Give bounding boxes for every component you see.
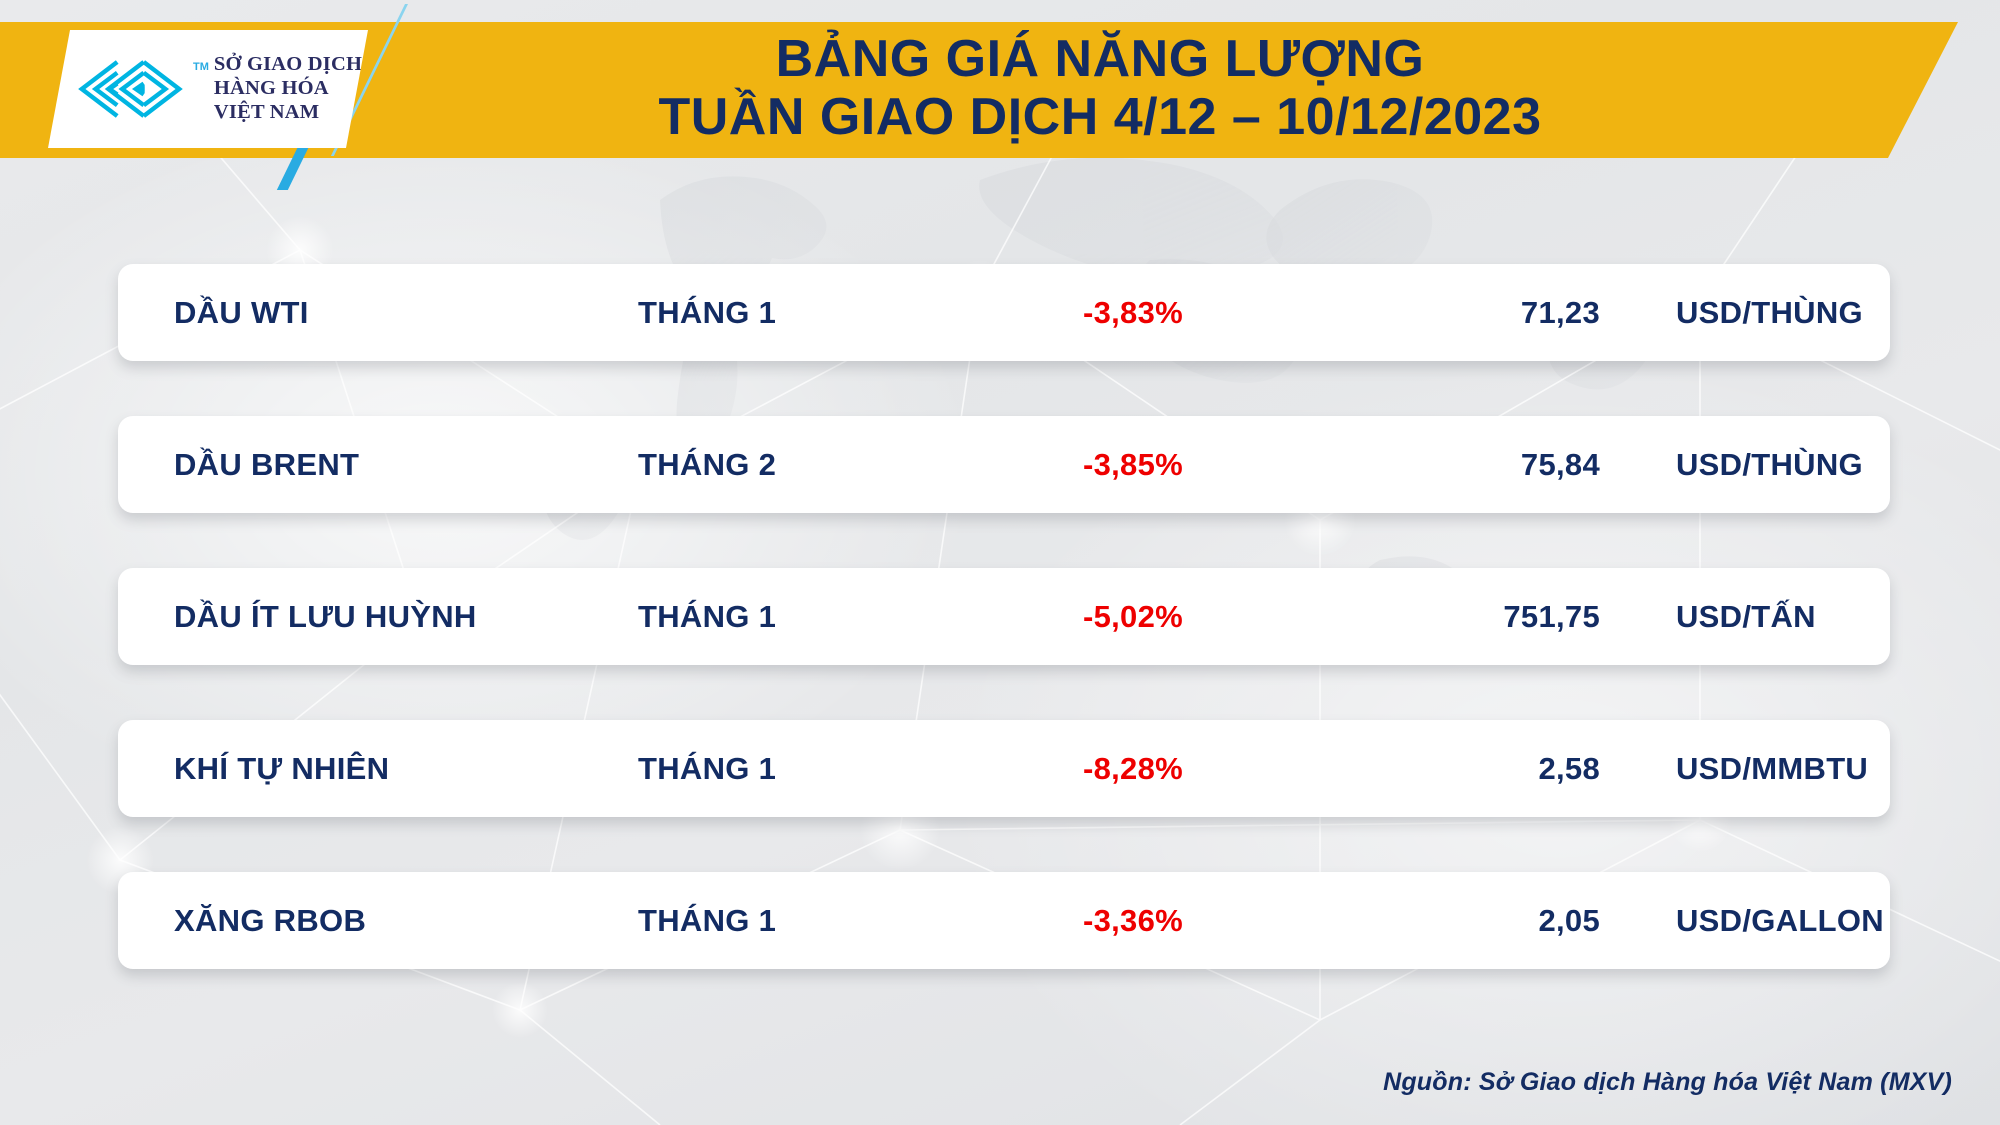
table-row[interactable]: DẦU ÍT LƯU HUỲNHTHÁNG 1-5,02%751,75USD/T… bbox=[118, 568, 1890, 665]
source-note: Nguồn: Sở Giao dịch Hàng hóa Việt Nam (M… bbox=[1383, 1068, 1952, 1097]
price-table: DẦU WTITHÁNG 1-3,83%71,23USD/THÙNGDẦU BR… bbox=[0, 0, 2000, 1125]
logo-card: TM SỞ GIAO DỊCH HÀNG HÓA VIỆT NAM bbox=[48, 30, 368, 148]
logo-wordmark-line3: VIỆT NAM bbox=[214, 101, 362, 125]
table-row[interactable]: DẦU BRENTTHÁNG 2-3,85%75,84USD/THÙNG bbox=[118, 416, 1890, 513]
commodity-name: DẦU BRENT bbox=[118, 447, 638, 483]
title-line-1: BẢNG GIÁ NĂNG LƯỢNG bbox=[776, 33, 1425, 87]
table-row[interactable]: DẦU WTITHÁNG 1-3,83%71,23USD/THÙNG bbox=[118, 264, 1890, 361]
table-row[interactable]: XĂNG RBOBTHÁNG 1-3,36%2,05USD/GALLON bbox=[118, 872, 1890, 969]
mxv-chevron-logo-icon bbox=[70, 58, 188, 120]
contract-month: THÁNG 1 bbox=[638, 599, 968, 635]
price-change-pct: -8,28% bbox=[968, 751, 1298, 787]
price-change-pct: -3,83% bbox=[968, 295, 1298, 331]
price-value: 71,23 bbox=[1298, 295, 1618, 331]
contract-month: THÁNG 1 bbox=[638, 295, 968, 331]
trademark-symbol: TM bbox=[193, 61, 209, 73]
price-unit: USD/GALLON bbox=[1618, 903, 1890, 939]
price-value: 75,84 bbox=[1298, 447, 1618, 483]
price-value: 2,58 bbox=[1298, 751, 1618, 787]
commodity-name: KHÍ TỰ NHIÊN bbox=[118, 751, 638, 787]
price-unit: USD/THÙNG bbox=[1618, 447, 1890, 483]
contract-month: THÁNG 1 bbox=[638, 903, 968, 939]
page-title: BẢNG GIÁ NĂNG LƯỢNG TUẦN GIAO DỊCH 4/12 … bbox=[360, 24, 1840, 154]
price-unit: USD/TẤN bbox=[1618, 599, 1890, 635]
logo-wordmark-line2: HÀNG HÓA bbox=[214, 77, 362, 101]
commodity-name: DẦU ÍT LƯU HUỲNH bbox=[118, 599, 638, 635]
contract-month: THÁNG 2 bbox=[638, 447, 968, 483]
price-change-pct: -3,36% bbox=[968, 903, 1298, 939]
commodity-name: XĂNG RBOB bbox=[118, 903, 638, 939]
table-row[interactable]: KHÍ TỰ NHIÊNTHÁNG 1-8,28%2,58USD/MMBTU bbox=[118, 720, 1890, 817]
logo-wordmark: SỞ GIAO DỊCH HÀNG HÓA VIỆT NAM bbox=[214, 53, 362, 125]
price-change-pct: -5,02% bbox=[968, 599, 1298, 635]
logo-wordmark-line1: SỞ GIAO DỊCH bbox=[214, 53, 362, 77]
price-unit: USD/MMBTU bbox=[1618, 751, 1890, 787]
price-value: 751,75 bbox=[1298, 599, 1618, 635]
contract-month: THÁNG 1 bbox=[638, 751, 968, 787]
price-value: 2,05 bbox=[1298, 903, 1618, 939]
price-unit: USD/THÙNG bbox=[1618, 295, 1890, 331]
price-change-pct: -3,85% bbox=[968, 447, 1298, 483]
title-line-2: TUẦN GIAO DỊCH 4/12 – 10/12/2023 bbox=[658, 91, 1541, 145]
commodity-name: DẦU WTI bbox=[118, 295, 638, 331]
